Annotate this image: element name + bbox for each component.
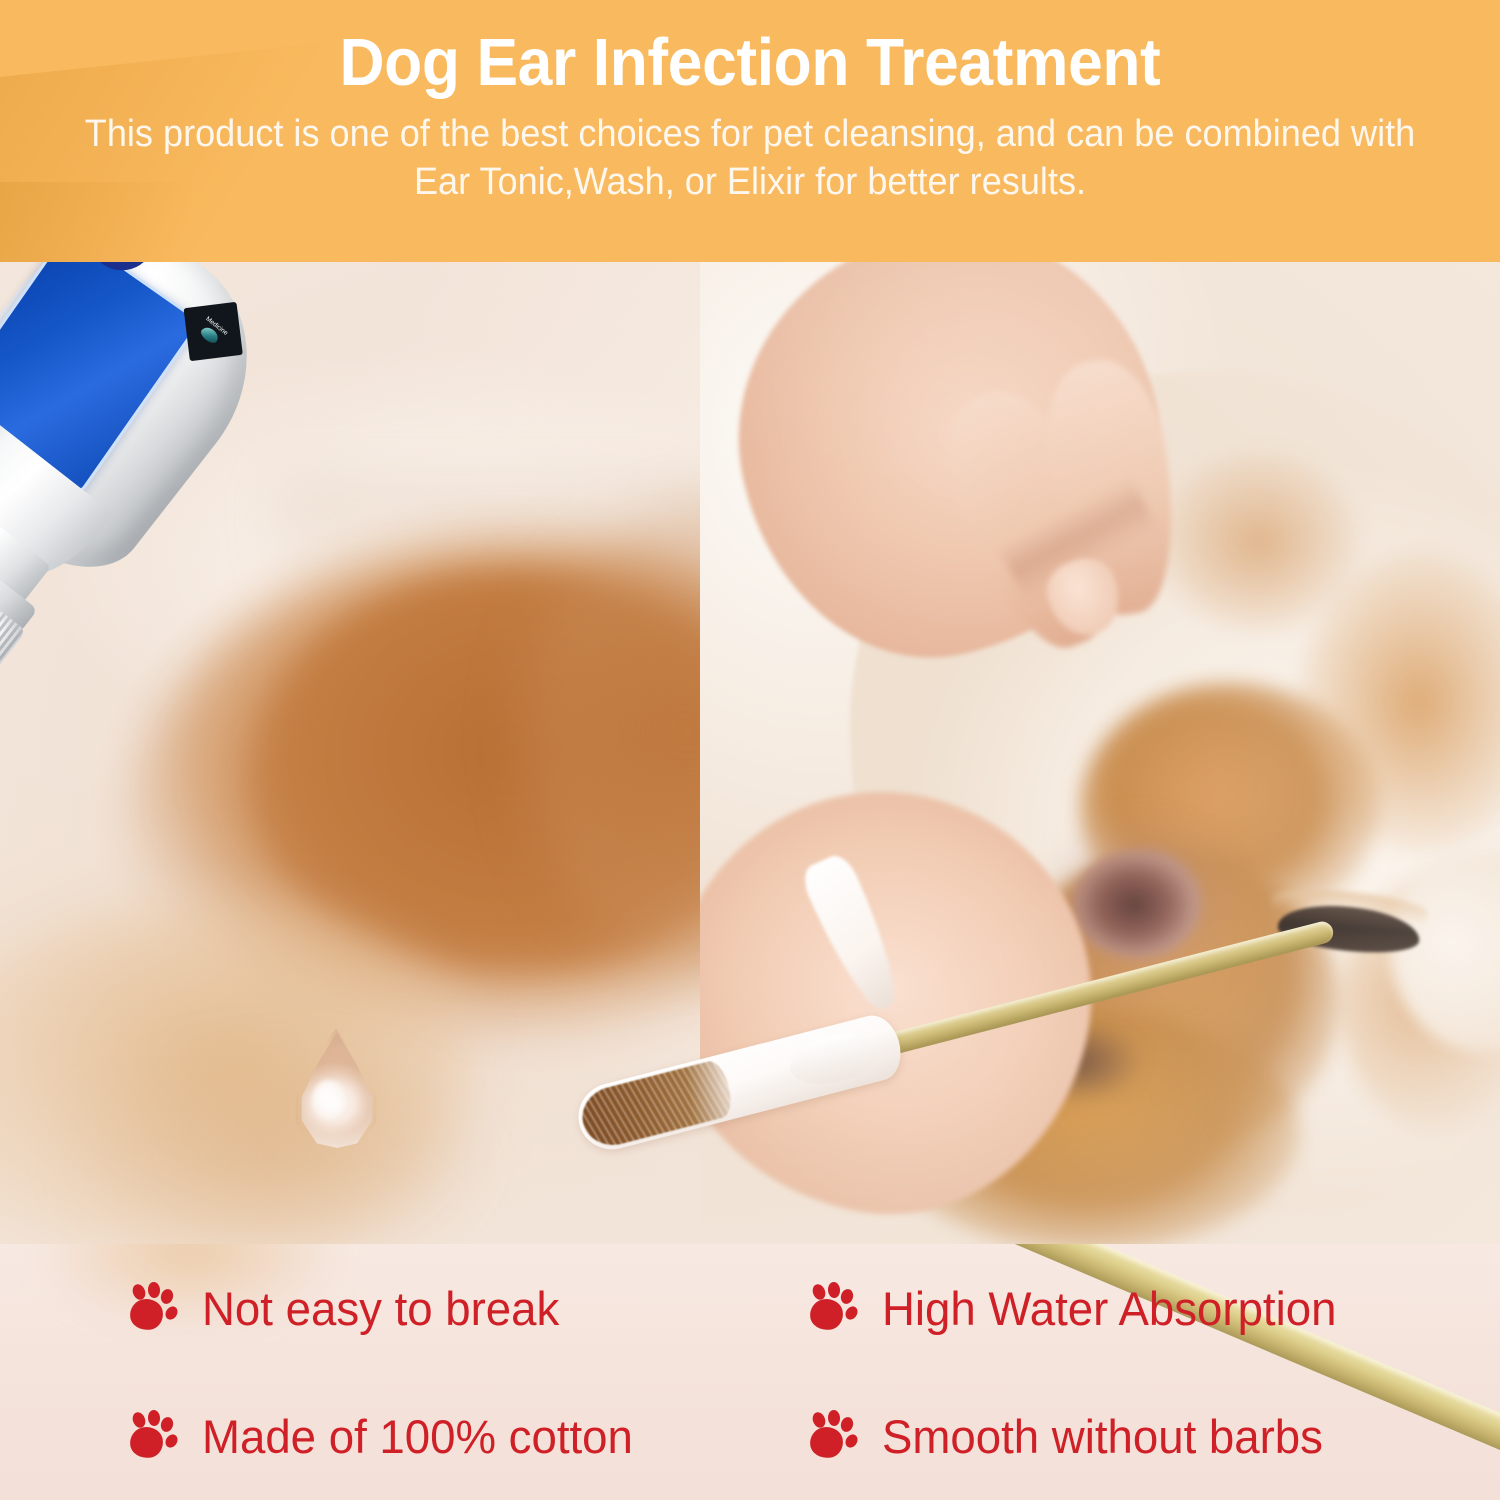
page-title: Dog Ear Infection Treatment (53, 28, 1448, 98)
page-subtitle: This product is one of the best choices … (38, 110, 1463, 207)
droplet-highlight (312, 1080, 346, 1120)
feature-item-smooth-without-barbs: Smooth without barbs (808, 1372, 1500, 1500)
features-list: Not easy to break High Water Absorption … (0, 1244, 1500, 1500)
feature-item-made-of-cotton: Made of 100% cotton (128, 1372, 808, 1500)
medicine-badge-icon: Medicine (183, 302, 242, 361)
paw-print-icon (808, 1282, 860, 1334)
feature-item-not-easy-to-break: Not easy to break (128, 1244, 808, 1372)
product-infographic: Dog Ear Infection Treatment This product… (0, 0, 1500, 1500)
feature-label: Not easy to break (202, 1281, 559, 1336)
dog-fur-patch (1160, 452, 1360, 632)
feature-label: Made of 100% cotton (202, 1409, 633, 1464)
feature-item-high-water-absorption: High Water Absorption (808, 1244, 1500, 1372)
product-photo: Medicine (0, 262, 1500, 1244)
paw-print-icon (128, 1282, 180, 1334)
feature-label: Smooth without barbs (882, 1409, 1323, 1464)
paw-print-icon (808, 1410, 860, 1462)
feature-label: High Water Absorption (882, 1281, 1336, 1336)
header-banner: Dog Ear Infection Treatment This product… (0, 0, 1500, 262)
paw-print-icon (128, 1410, 180, 1462)
features-panel: Not easy to break High Water Absorption … (0, 1244, 1500, 1500)
